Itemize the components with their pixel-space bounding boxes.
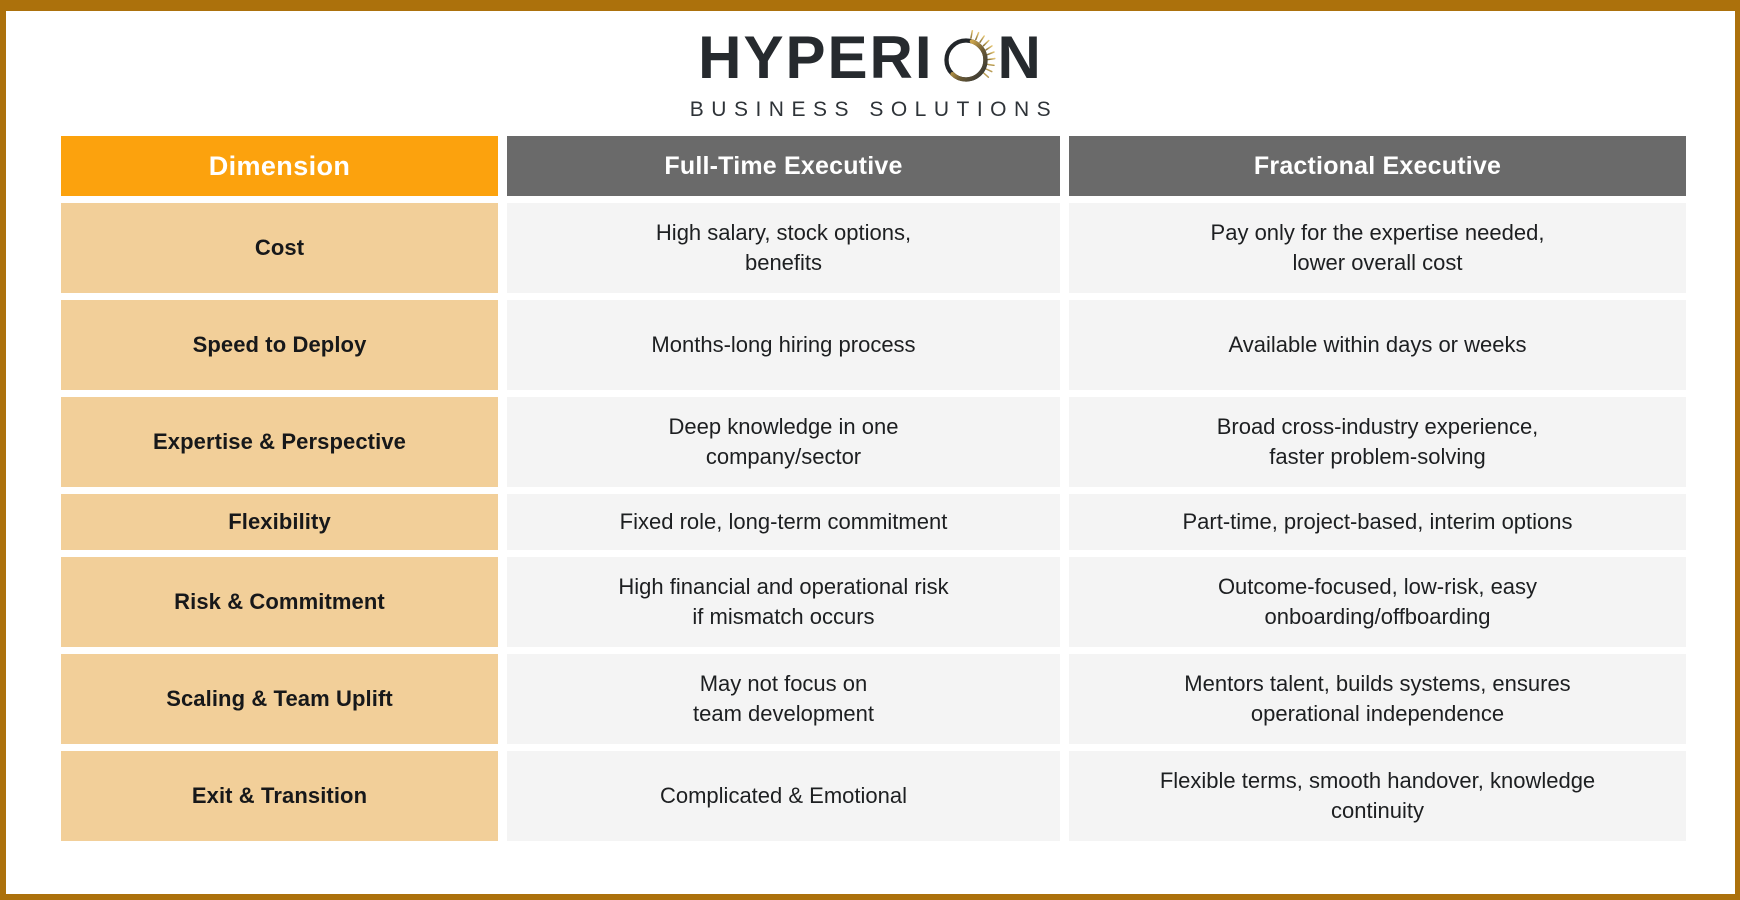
brand-logo: HYPERI <box>6 27 1735 122</box>
text-line: benefits <box>656 248 911 278</box>
table-row: Flexibility Fixed role, long-term commit… <box>61 494 1677 550</box>
text-line: continuity <box>1160 796 1595 826</box>
row-fractional-value: Outcome-focused, low-risk, easy onboardi… <box>1069 557 1686 647</box>
table-header-row: Dimension Full-Time Executive Fractional… <box>61 136 1677 196</box>
logo-word-after: N <box>998 28 1043 88</box>
row-fractional-value: Flexible terms, smooth handover, knowled… <box>1069 751 1686 841</box>
page-content: HYPERI <box>6 11 1735 894</box>
text-line: team development <box>693 699 874 729</box>
text-line: Fixed role, long-term commitment <box>620 507 948 537</box>
text-line: High salary, stock options, <box>656 218 911 248</box>
row-dimension-label: Risk & Commitment <box>61 557 498 647</box>
row-full-time-value: High salary, stock options, benefits <box>507 203 1060 293</box>
text-line: Available within days or weeks <box>1229 330 1527 360</box>
text-line: operational independence <box>1184 699 1570 729</box>
column-header-fractional: Fractional Executive <box>1069 136 1686 196</box>
text-line: Outcome-focused, low-risk, easy <box>1218 572 1537 602</box>
row-full-time-value: Complicated & Emotional <box>507 751 1060 841</box>
logo-word-before: HYPERI <box>698 28 933 88</box>
text-line: Complicated & Emotional <box>660 781 907 811</box>
row-fractional-value: Mentors talent, builds systems, ensures … <box>1069 654 1686 744</box>
row-full-time-value: Months-long hiring process <box>507 300 1060 390</box>
row-dimension-label: Speed to Deploy <box>61 300 498 390</box>
row-dimension-label: Exit & Transition <box>61 751 498 841</box>
row-full-time-value: May not focus on team development <box>507 654 1060 744</box>
row-dimension-label: Expertise & Perspective <box>61 397 498 487</box>
row-fractional-value: Available within days or weeks <box>1069 300 1686 390</box>
row-fractional-value: Part-time, project-based, interim option… <box>1069 494 1686 550</box>
text-line: if mismatch occurs <box>618 602 948 632</box>
comparison-table: Dimension Full-Time Executive Fractional… <box>61 136 1677 841</box>
table-row: Exit & Transition Complicated & Emotiona… <box>61 751 1677 841</box>
page-frame: HYPERI <box>0 0 1740 900</box>
text-line: Mentors talent, builds systems, ensures <box>1184 669 1570 699</box>
row-fractional-value: Pay only for the expertise needed, lower… <box>1069 203 1686 293</box>
table-row: Speed to Deploy Months-long hiring proce… <box>61 300 1677 390</box>
table-row: Cost High salary, stock options, benefit… <box>61 203 1677 293</box>
text-line: May not focus on <box>693 669 874 699</box>
table-row: Risk & Commitment High financial and ope… <box>61 557 1677 647</box>
text-line: company/sector <box>669 442 899 472</box>
logo-tagline: BUSINESS SOLUTIONS <box>683 98 1058 122</box>
text-line: Broad cross-industry experience, <box>1217 412 1539 442</box>
row-dimension-label: Cost <box>61 203 498 293</box>
sun-ring-icon <box>935 27 997 89</box>
text-line: Months-long hiring process <box>651 330 915 360</box>
text-line: Deep knowledge in one <box>669 412 899 442</box>
table-row: Expertise & Perspective Deep knowledge i… <box>61 397 1677 487</box>
column-header-full-time: Full-Time Executive <box>507 136 1060 196</box>
row-full-time-value: Fixed role, long-term commitment <box>507 494 1060 550</box>
text-line: Flexible terms, smooth handover, knowled… <box>1160 766 1595 796</box>
row-dimension-label: Scaling & Team Uplift <box>61 654 498 744</box>
text-line: onboarding/offboarding <box>1218 602 1537 632</box>
text-line: High financial and operational risk <box>618 572 948 602</box>
logo-wordmark: HYPERI <box>698 27 1043 89</box>
column-header-dimension: Dimension <box>61 136 498 196</box>
row-fractional-value: Broad cross-industry experience, faster … <box>1069 397 1686 487</box>
text-line: faster problem-solving <box>1217 442 1539 472</box>
text-line: Part-time, project-based, interim option… <box>1182 507 1572 537</box>
row-dimension-label: Flexibility <box>61 494 498 550</box>
table-row: Scaling & Team Uplift May not focus on t… <box>61 654 1677 744</box>
text-line: Pay only for the expertise needed, <box>1211 218 1545 248</box>
text-line: lower overall cost <box>1211 248 1545 278</box>
row-full-time-value: High financial and operational risk if m… <box>507 557 1060 647</box>
row-full-time-value: Deep knowledge in one company/sector <box>507 397 1060 487</box>
